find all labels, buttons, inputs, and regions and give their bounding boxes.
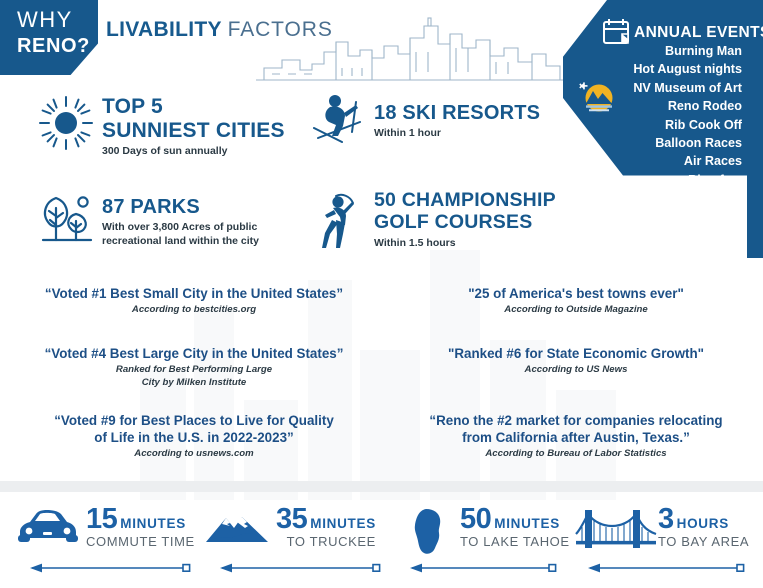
feature-golf-courses: 50 CHAMPIONSHIP GOLF COURSES Within 1.5 … — [312, 190, 556, 250]
quote-text: "25 of America's best towns ever" — [396, 285, 756, 302]
distance-arrow-icon — [218, 562, 384, 574]
feature-subtitle: Within 1.5 hours — [374, 237, 556, 250]
quote-text: “Voted #4 Best Large City in the United … — [14, 345, 374, 362]
quote-text-line1: “Voted #1 Best Small City in the United … — [14, 285, 374, 302]
list-item: Artown — [542, 189, 742, 207]
quote-source: According to Bureau of Labor Statistics — [396, 448, 756, 461]
quote-source-line1: Ranked for Best Performing Large — [14, 364, 374, 377]
quote-text: “Voted #9 for Best Places to Live for Qu… — [14, 412, 374, 446]
list-item: Air Races — [542, 152, 742, 170]
feature-sunniest-cities: TOP 5 SUNNIEST CITIES 300 Days of sun an… — [38, 95, 285, 158]
golfer-icon — [312, 190, 368, 252]
feature-subtitle: With over 3,800 Acres of public recreati… — [102, 221, 259, 247]
quote-card: "25 of America's best towns ever" Accord… — [396, 285, 756, 317]
annual-events-list: Burning Man Hot August nights NV Museum … — [542, 42, 742, 208]
feature-title-line1: 87 PARKS — [102, 196, 259, 218]
quote-card: “Voted #9 for Best Places to Live for Qu… — [14, 412, 374, 461]
page-title-bold: LIVABILITY — [106, 18, 222, 41]
quote-card: "Ranked #6 for State Economic Growth" Ac… — [396, 345, 756, 377]
feature-title: TOP 5 SUNNIEST CITIES — [102, 95, 285, 142]
list-item: Burning Man — [542, 42, 742, 60]
travel-number: 15 — [86, 506, 117, 533]
quote-text-line1: “Reno the #2 market for companies reloca… — [396, 412, 756, 429]
quote-card: “Reno the #2 market for companies reloca… — [396, 412, 756, 461]
list-item: Balloon Races — [542, 134, 742, 152]
feature-parks: 87 PARKS With over 3,800 Acres of public… — [38, 192, 259, 248]
quote-text: "Ranked #6 for State Economic Growth" — [396, 345, 756, 362]
quote-card: “Voted #4 Best Large City in the United … — [14, 345, 374, 389]
travel-item-bay-area: 3HOURS TO BAY AREA — [574, 500, 754, 580]
feature-title: 18 SKI RESORTS — [374, 102, 540, 124]
travel-unit: MINUTES — [494, 516, 560, 531]
annual-events-title: ANNUAL EVENTS — [634, 24, 763, 42]
travel-item-lake-tahoe: 50MINUTES TO LAKE TAHOE — [394, 500, 574, 580]
feature-subtitle: Within 1 hour — [374, 127, 540, 140]
feature-title-line1: TOP 5 — [102, 95, 285, 119]
quote-source: According to usnews.com — [14, 448, 374, 461]
list-item: Riverfest — [542, 171, 742, 189]
travel-unit: MINUTES — [120, 516, 186, 531]
lake-tahoe-icon — [408, 508, 452, 556]
travel-unit: MINUTES — [310, 516, 376, 531]
quote-text: “Reno the #2 market for companies reloca… — [396, 412, 756, 446]
quote-text: “Voted #1 Best Small City in the United … — [14, 285, 374, 302]
travel-number: 35 — [276, 506, 307, 533]
travel-item-commute: 15MINUTES COMMUTE TIME — [14, 500, 194, 580]
travel-destination: TO LAKE TAHOE — [460, 534, 570, 549]
distance-arrow-icon — [28, 562, 194, 574]
mountain-icon — [204, 508, 270, 548]
quote-text-line1: “Voted #9 for Best Places to Live for Qu… — [14, 412, 374, 429]
section-divider — [0, 481, 763, 492]
feature-subtitle: 300 Days of sun annually — [102, 145, 285, 158]
quote-text-line1: “Voted #4 Best Large City in the United … — [14, 345, 374, 362]
list-item: NV Museum of Art — [542, 79, 742, 97]
quote-source-line1: According to Bureau of Labor Statistics — [396, 448, 756, 461]
feature-title-line1: 18 SKI RESORTS — [374, 102, 540, 124]
quote-source: Ranked for Best Performing Large City by… — [14, 364, 374, 389]
travel-number: 3 — [658, 506, 674, 533]
list-item: Reno Rodeo — [542, 97, 742, 115]
feature-subtitle-line2: recreational land within the city — [102, 235, 259, 248]
quote-source-line1: According to usnews.com — [14, 448, 374, 461]
quote-source: According to bestcities.org — [14, 304, 374, 317]
feature-subtitle-line1: With over 3,800 Acres of public — [102, 221, 259, 234]
feature-title-line2: SUNNIEST CITIES — [102, 119, 285, 143]
quote-source-line1: According to Outside Magazine — [396, 304, 756, 317]
city-skyline-icon — [252, 12, 572, 88]
calendar-icon — [601, 17, 631, 45]
travel-item-truckee: 35MINUTES TO TRUCKEE — [204, 500, 384, 580]
feature-ski-resorts: 18 SKI RESORTS Within 1 hour — [312, 92, 540, 141]
travel-unit: HOURS — [677, 516, 729, 531]
quote-text-line1: "25 of America's best towns ever" — [396, 285, 756, 302]
distance-arrow-icon — [408, 562, 560, 574]
quote-card: “Voted #1 Best Small City in the United … — [14, 285, 374, 317]
reno-label: RENO? — [17, 36, 90, 56]
feature-title: 50 CHAMPIONSHIP GOLF COURSES — [374, 190, 556, 234]
bridge-icon — [574, 508, 658, 552]
list-item: Hot August nights — [542, 60, 742, 78]
quote-source: According to US News — [396, 364, 756, 377]
feature-title-line1: 50 CHAMPIONSHIP — [374, 190, 556, 212]
travel-destination: TO BAY AREA — [658, 534, 749, 549]
trees-icon — [38, 192, 96, 246]
travel-destination: COMMUTE TIME — [86, 534, 195, 549]
distance-arrow-icon — [586, 562, 748, 574]
list-item: Rib Cook Off — [542, 116, 742, 134]
sun-icon — [38, 95, 94, 151]
quote-text-line2: of Life in the U.S. in 2022-2023” — [14, 429, 374, 446]
quote-source: According to Outside Magazine — [396, 304, 756, 317]
feature-title-line2: GOLF COURSES — [374, 212, 556, 234]
quote-text-line2: from California after Austin, Texas.” — [396, 429, 756, 446]
quote-source-line1: According to US News — [396, 364, 756, 377]
car-icon — [14, 508, 80, 548]
travel-destination: TO TRUCKEE — [276, 534, 376, 549]
quote-source-line2: City by Milken Institute — [14, 377, 374, 390]
feature-title: 87 PARKS — [102, 196, 259, 218]
why-label: WHY — [17, 9, 73, 31]
infographic-canvas: WHY RENO? LIVABILITY FACTORS — [0, 0, 763, 588]
skier-icon — [312, 92, 368, 150]
quote-text-line1: "Ranked #6 for State Economic Growth" — [396, 345, 756, 362]
quote-source-line1: According to bestcities.org — [14, 304, 374, 317]
travel-number: 50 — [460, 506, 491, 533]
